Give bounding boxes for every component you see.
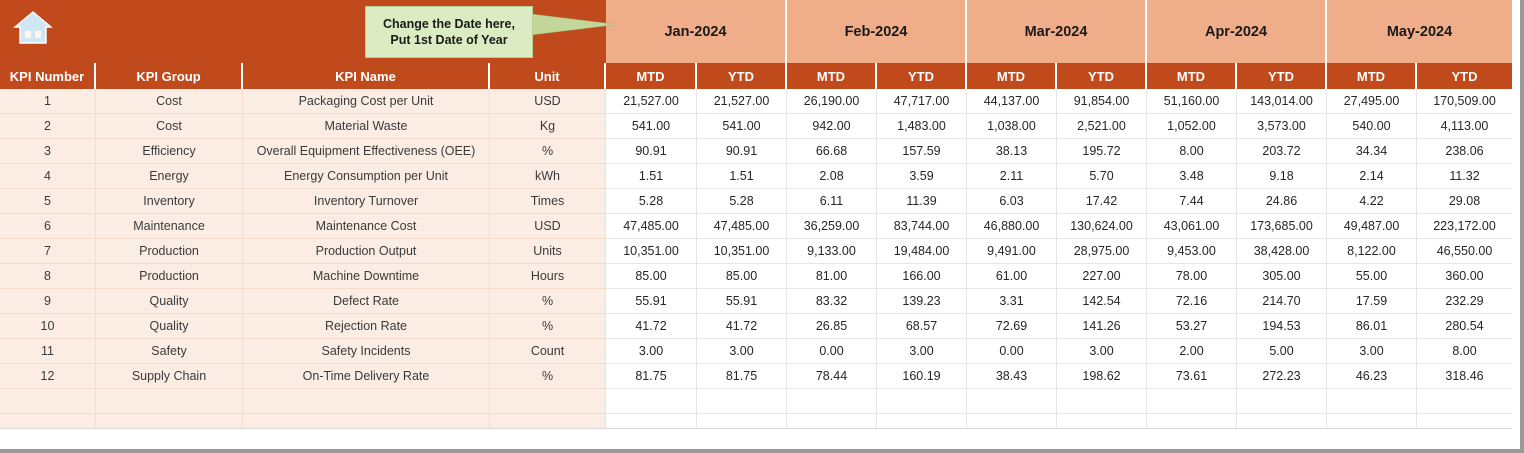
cell-value[interactable]: 1,052.00 (1147, 114, 1237, 139)
cell-value[interactable]: 3.59 (877, 164, 967, 189)
cell-value[interactable]: 9.18 (1237, 164, 1327, 189)
cell-value[interactable]: 26.85 (787, 314, 877, 339)
cell-value[interactable]: 49,487.00 (1327, 214, 1417, 239)
cell-value[interactable] (877, 389, 967, 414)
month-header-feb-2024[interactable]: Feb-2024 (787, 0, 967, 63)
cell-name[interactable]: Rejection Rate (243, 314, 490, 339)
header-mtd-feb-2024: MTD (787, 63, 877, 89)
header-mtd-may-2024: MTD (1327, 63, 1417, 89)
cell-value[interactable]: 10,351.00 (697, 239, 787, 264)
cell-value[interactable] (606, 389, 697, 414)
cell-number[interactable]: 6 (0, 214, 96, 239)
cell-value[interactable]: 24.86 (1237, 189, 1327, 214)
cell-value[interactable]: 29.08 (1417, 189, 1512, 214)
cell-number[interactable]: 5 (0, 189, 96, 214)
cell-value[interactable]: 160.19 (877, 364, 967, 389)
cell-value[interactable] (1057, 389, 1147, 414)
cell-group[interactable]: Safety (96, 339, 243, 364)
cell-value[interactable]: 72.69 (967, 314, 1057, 339)
cell-value[interactable]: 1.51 (606, 164, 697, 189)
cell-number[interactable]: 8 (0, 264, 96, 289)
cell-value[interactable]: 5.28 (606, 189, 697, 214)
cell-value[interactable]: 44,137.00 (967, 89, 1057, 114)
cell-value[interactable]: 81.75 (606, 364, 697, 389)
cell-value[interactable] (787, 389, 877, 414)
cell-number[interactable]: 9 (0, 289, 96, 314)
cell-value[interactable]: 27,495.00 (1327, 89, 1417, 114)
cell-group[interactable]: Production (96, 264, 243, 289)
table-row: 3EfficiencyOverall Equipment Effectivene… (0, 139, 1512, 164)
cell-unit[interactable]: % (490, 314, 606, 339)
cell-value[interactable]: 55.00 (1327, 264, 1417, 289)
cell-value[interactable]: 143,014.00 (1237, 89, 1327, 114)
callout-pointer-icon (531, 14, 613, 36)
cell-value[interactable]: 540.00 (1327, 114, 1417, 139)
cell-value[interactable]: 0.00 (967, 339, 1057, 364)
cell-group[interactable]: Maintenance (96, 214, 243, 239)
cell-value[interactable]: 81.00 (787, 264, 877, 289)
home-icon[interactable] (13, 9, 53, 47)
cell-value[interactable]: 1.51 (697, 164, 787, 189)
cell-name[interactable]: On-Time Delivery Rate (243, 364, 490, 389)
cell-value[interactable] (1147, 389, 1237, 414)
cell-value[interactable]: 360.00 (1417, 264, 1512, 289)
cell-unit[interactable]: % (490, 364, 606, 389)
cell-value[interactable]: 541.00 (697, 114, 787, 139)
cell-name[interactable]: Defect Rate (243, 289, 490, 314)
cell-value[interactable]: 68.57 (877, 314, 967, 339)
cell-value[interactable]: 26,190.00 (787, 89, 877, 114)
cell-value[interactable]: 5.28 (697, 189, 787, 214)
cell-value[interactable]: 85.00 (606, 264, 697, 289)
table-row: 10QualityRejection Rate%41.7241.7226.856… (0, 314, 1512, 339)
cell-value[interactable]: 85.00 (697, 264, 787, 289)
header-ytd-apr-2024: YTD (1237, 63, 1327, 89)
cell-group[interactable]: Quality (96, 289, 243, 314)
cell-value[interactable]: 46,550.00 (1417, 239, 1512, 264)
cell-value[interactable]: 3.00 (1327, 339, 1417, 364)
cell-unit[interactable]: USD (490, 89, 606, 114)
month-header-band: Jan-2024Feb-2024Mar-2024Apr-2024May-2024 (606, 0, 1512, 63)
cell-group[interactable]: Production (96, 239, 243, 264)
cell-value[interactable]: 47,485.00 (697, 214, 787, 239)
cell-value[interactable]: 4.22 (1327, 189, 1417, 214)
cell-value[interactable]: 139.23 (877, 289, 967, 314)
cell-name[interactable]: Material Waste (243, 114, 490, 139)
cell-value[interactable]: 3,573.00 (1237, 114, 1327, 139)
cell-unit[interactable]: kWh (490, 164, 606, 189)
callout-line-1: Change the Date here, (383, 16, 515, 32)
cell-value[interactable]: 21,527.00 (697, 89, 787, 114)
cell-value[interactable]: 8,122.00 (1327, 239, 1417, 264)
cell-number[interactable]: 11 (0, 339, 96, 364)
cell-group[interactable]: Supply Chain (96, 364, 243, 389)
cell-value[interactable]: 38.43 (967, 364, 1057, 389)
cell-value[interactable]: 38.13 (967, 139, 1057, 164)
cell-value[interactable]: 78.44 (787, 364, 877, 389)
header-ytd-feb-2024: YTD (877, 63, 967, 89)
cell-value[interactable]: 9,491.00 (967, 239, 1057, 264)
cell-value[interactable]: 91,854.00 (1057, 89, 1147, 114)
cell-value[interactable]: 73.61 (1147, 364, 1237, 389)
cell-unit[interactable]: Hours (490, 264, 606, 289)
cell-name[interactable]: Packaging Cost per Unit (243, 89, 490, 114)
cell-value[interactable]: 232.29 (1417, 289, 1512, 314)
cell-value[interactable]: 1,483.00 (877, 114, 967, 139)
cell-value[interactable]: 9,453.00 (1147, 239, 1237, 264)
cell-value[interactable]: 47,485.00 (606, 214, 697, 239)
cell-unit[interactable] (490, 389, 606, 414)
month-header-may-2024[interactable]: May-2024 (1327, 0, 1512, 63)
cell-value[interactable]: 36,259.00 (787, 214, 877, 239)
cell-group[interactable]: Cost (96, 89, 243, 114)
cell-value[interactable]: 19,484.00 (877, 239, 967, 264)
cell-number[interactable]: 12 (0, 364, 96, 389)
cell-value[interactable]: 3.31 (967, 289, 1057, 314)
header-mtd-mar-2024: MTD (967, 63, 1057, 89)
cell-value[interactable]: 17.59 (1327, 289, 1417, 314)
cell-value[interactable]: 3.00 (606, 339, 697, 364)
cell-value[interactable]: 280.54 (1417, 314, 1512, 339)
cell-value[interactable]: 2,521.00 (1057, 114, 1147, 139)
cell-value[interactable] (697, 389, 787, 414)
cell-value[interactable]: 2.14 (1327, 164, 1417, 189)
cell-value[interactable]: 2.08 (787, 164, 877, 189)
cell-value[interactable] (967, 389, 1057, 414)
cell-name[interactable]: Energy Consumption per Unit (243, 164, 490, 189)
cell-value[interactable]: 541.00 (606, 114, 697, 139)
cell-value[interactable]: 34.34 (1327, 139, 1417, 164)
cell-value[interactable]: 198.62 (1057, 364, 1147, 389)
cell-value[interactable]: 38,428.00 (1237, 239, 1327, 264)
cell-value[interactable]: 4,113.00 (1417, 114, 1512, 139)
cell-value[interactable]: 47,717.00 (877, 89, 967, 114)
cell-value[interactable]: 173,685.00 (1237, 214, 1327, 239)
cell-value[interactable]: 142.54 (1057, 289, 1147, 314)
cell-value[interactable]: 3.00 (1057, 339, 1147, 364)
cell-value[interactable]: 28,975.00 (1057, 239, 1147, 264)
table-row: 12Supply ChainOn-Time Delivery Rate%81.7… (0, 364, 1512, 389)
cell-value[interactable]: 203.72 (1237, 139, 1327, 164)
cell-unit[interactable]: Times (490, 189, 606, 214)
cell-name[interactable]: Maintenance Cost (243, 214, 490, 239)
cell-value[interactable] (1237, 389, 1327, 414)
cell-value[interactable]: 130,624.00 (1057, 214, 1147, 239)
cell-value[interactable]: 6.03 (967, 189, 1057, 214)
month-header-jan-2024[interactable]: Jan-2024 (606, 0, 787, 63)
cell-value[interactable]: 53.27 (1147, 314, 1237, 339)
sheet-bottom-band (0, 428, 1512, 449)
cell-value[interactable]: 83,744.00 (877, 214, 967, 239)
table-row: 7ProductionProduction OutputUnits10,351.… (0, 239, 1512, 264)
cell-value[interactable]: 83.32 (787, 289, 877, 314)
cell-value[interactable]: 41.72 (697, 314, 787, 339)
cell-number[interactable]: 4 (0, 164, 96, 189)
cell-value[interactable]: 61.00 (967, 264, 1057, 289)
header-unit: Unit (490, 63, 606, 89)
cell-name[interactable] (243, 389, 490, 414)
cell-name[interactable]: Machine Downtime (243, 264, 490, 289)
cell-value[interactable]: 5.70 (1057, 164, 1147, 189)
cell-value[interactable]: 90.91 (606, 139, 697, 164)
sheet-right-gap (1512, 0, 1520, 449)
cell-value[interactable]: 157.59 (877, 139, 967, 164)
cell-value[interactable]: 195.72 (1057, 139, 1147, 164)
cell-group[interactable]: Quality (96, 314, 243, 339)
cell-number[interactable]: 1 (0, 89, 96, 114)
cell-number[interactable]: 2 (0, 114, 96, 139)
cell-value[interactable]: 9,133.00 (787, 239, 877, 264)
cell-value[interactable]: 78.00 (1147, 264, 1237, 289)
cell-value[interactable]: 90.91 (697, 139, 787, 164)
cell-value[interactable]: 318.46 (1417, 364, 1512, 389)
cell-value[interactable]: 86.01 (1327, 314, 1417, 339)
cell-group[interactable]: Energy (96, 164, 243, 189)
cell-unit[interactable]: % (490, 289, 606, 314)
cell-value[interactable]: 21,527.00 (606, 89, 697, 114)
cell-value[interactable]: 2.11 (967, 164, 1057, 189)
table-row (0, 389, 1512, 414)
header-mtd-apr-2024: MTD (1147, 63, 1237, 89)
table-row: 9QualityDefect Rate%55.9155.9183.32139.2… (0, 289, 1512, 314)
cell-number[interactable]: 10 (0, 314, 96, 339)
cell-name[interactable]: Safety Incidents (243, 339, 490, 364)
cell-value[interactable]: 46.23 (1327, 364, 1417, 389)
cell-value[interactable]: 8.00 (1417, 339, 1512, 364)
cell-value[interactable]: 170,509.00 (1417, 89, 1512, 114)
cell-value[interactable]: 51,160.00 (1147, 89, 1237, 114)
table-row: 8ProductionMachine DowntimeHours85.0085.… (0, 264, 1512, 289)
cell-value[interactable]: 2.00 (1147, 339, 1237, 364)
cell-value[interactable]: 166.00 (877, 264, 967, 289)
cell-unit[interactable]: Kg (490, 114, 606, 139)
cell-unit[interactable]: Count (490, 339, 606, 364)
cell-value[interactable]: 3.00 (697, 339, 787, 364)
cell-value[interactable]: 66.68 (787, 139, 877, 164)
cell-value[interactable]: 72.16 (1147, 289, 1237, 314)
cell-value[interactable]: 55.91 (606, 289, 697, 314)
cell-value[interactable]: 141.26 (1057, 314, 1147, 339)
cell-value[interactable] (1327, 389, 1417, 414)
cell-unit[interactable]: % (490, 139, 606, 164)
cell-value[interactable]: 3.48 (1147, 164, 1237, 189)
cell-value[interactable]: 8.00 (1147, 139, 1237, 164)
table-row: 11SafetySafety IncidentsCount3.003.000.0… (0, 339, 1512, 364)
cell-value[interactable]: 17.42 (1057, 189, 1147, 214)
kpi-dashboard-sheet: Change the Date here, Put 1st Date of Ye… (0, 0, 1524, 453)
cell-group[interactable] (96, 389, 243, 414)
header-kpi-number: KPI Number (0, 63, 96, 89)
cell-value[interactable]: 5.00 (1237, 339, 1327, 364)
cell-name[interactable]: Production Output (243, 239, 490, 264)
cell-value[interactable]: 46,880.00 (967, 214, 1057, 239)
cell-value[interactable]: 41.72 (606, 314, 697, 339)
cell-value[interactable]: 194.53 (1237, 314, 1327, 339)
cell-name[interactable]: Inventory Turnover (243, 189, 490, 214)
callout-line-2: Put 1st Date of Year (390, 32, 507, 48)
cell-value[interactable]: 7.44 (1147, 189, 1237, 214)
cell-name[interactable]: Overall Equipment Effectiveness (OEE) (243, 139, 490, 164)
cell-group[interactable]: Efficiency (96, 139, 243, 164)
cell-value[interactable]: 0.00 (787, 339, 877, 364)
cell-value[interactable]: 6.11 (787, 189, 877, 214)
header-ytd-mar-2024: YTD (1057, 63, 1147, 89)
cell-value[interactable]: 238.06 (1417, 139, 1512, 164)
cell-value[interactable]: 55.91 (697, 289, 787, 314)
header-ytd-may-2024: YTD (1417, 63, 1512, 89)
cell-value[interactable]: 305.00 (1237, 264, 1327, 289)
cell-value[interactable]: 11.39 (877, 189, 967, 214)
table-row: 2CostMaterial WasteKg541.00541.00942.001… (0, 114, 1512, 139)
cell-value[interactable]: 227.00 (1057, 264, 1147, 289)
header-kpi-group: KPI Group (96, 63, 243, 89)
cell-unit[interactable]: USD (490, 214, 606, 239)
cell-value[interactable]: 223,172.00 (1417, 214, 1512, 239)
callout-change-date: Change the Date here, Put 1st Date of Ye… (365, 6, 533, 58)
cell-value[interactable]: 10,351.00 (606, 239, 697, 264)
cell-value[interactable]: 214.70 (1237, 289, 1327, 314)
table-row: 5InventoryInventory TurnoverTimes5.285.2… (0, 189, 1512, 214)
table-row: 1CostPackaging Cost per UnitUSD21,527.00… (0, 89, 1512, 114)
table-row: 6MaintenanceMaintenance CostUSD47,485.00… (0, 214, 1512, 239)
cell-value[interactable]: 942.00 (787, 114, 877, 139)
column-header-row: KPI NumberKPI GroupKPI NameUnitMTDYTDMTD… (0, 63, 1512, 89)
header-mtd-jan-2024: MTD (606, 63, 697, 89)
cell-value[interactable]: 43,061.00 (1147, 214, 1237, 239)
cell-value[interactable]: 11.32 (1417, 164, 1512, 189)
header-ytd-jan-2024: YTD (697, 63, 787, 89)
cell-group[interactable]: Cost (96, 114, 243, 139)
table-body: 1CostPackaging Cost per UnitUSD21,527.00… (0, 89, 1512, 428)
cell-number[interactable]: 3 (0, 139, 96, 164)
cell-number[interactable]: 7 (0, 239, 96, 264)
cell-group[interactable]: Inventory (96, 189, 243, 214)
table-row: 4EnergyEnergy Consumption per UnitkWh1.5… (0, 164, 1512, 189)
cell-value[interactable]: 1,038.00 (967, 114, 1057, 139)
cell-value[interactable]: 272.23 (1237, 364, 1327, 389)
header-kpi-name: KPI Name (243, 63, 490, 89)
month-header-mar-2024[interactable]: Mar-2024 (967, 0, 1147, 63)
cell-unit[interactable]: Units (490, 239, 606, 264)
cell-value[interactable] (1417, 389, 1512, 414)
cell-value[interactable]: 3.00 (877, 339, 967, 364)
cell-value[interactable]: 81.75 (697, 364, 787, 389)
cell-number[interactable] (0, 389, 96, 414)
month-header-apr-2024[interactable]: Apr-2024 (1147, 0, 1327, 63)
